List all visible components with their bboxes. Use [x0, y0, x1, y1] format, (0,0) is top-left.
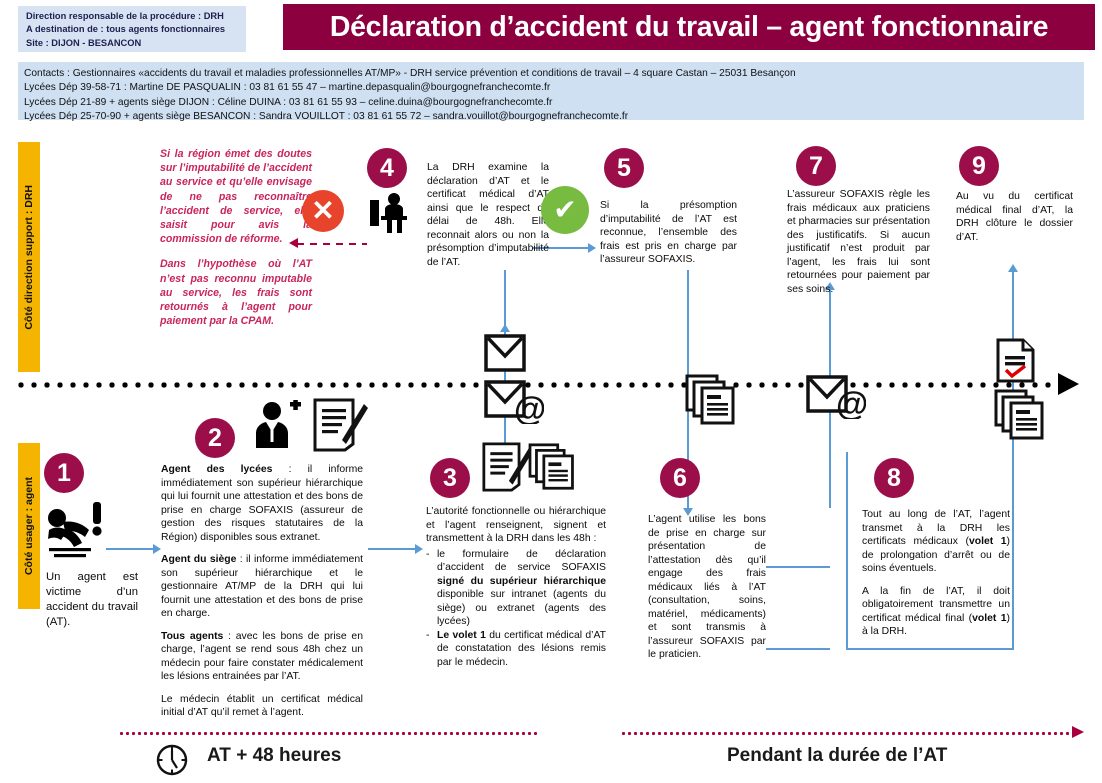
step-badge-8: 8 — [874, 458, 914, 498]
step-8-paragraph-2: A la fin de l’AT, il doit obligatoiremen… — [862, 585, 1010, 639]
step-2-body-4: Le médecin établit un certificat médical… — [161, 694, 363, 719]
step-badge-7: 7 — [796, 146, 836, 186]
step-2-lead-1: Agent des lycées — [161, 464, 272, 475]
step-2-lead-3: Tous agents — [161, 631, 223, 642]
accept-check-icon: ✔ — [541, 186, 589, 234]
contacts-line-2: Lycées Dép 39-58-71 : Martine DE PASQUAL… — [24, 81, 1084, 95]
connector-step8-to-step9-arrow-icon — [1008, 264, 1018, 272]
step-9-text: Au vu du certificat médical final d’AT, … — [956, 190, 1073, 244]
meta-line-2: A destination de : tous agents fonctionn… — [26, 23, 240, 36]
step-2-text: Agent des lycées : il informe immédiatem… — [161, 463, 363, 720]
certificate-validated-icon — [995, 338, 1037, 384]
step-3-bullet-1-text: le formulaire de déclaration d’accident … — [437, 549, 606, 628]
footer-label-left: AT + 48 heures — [207, 745, 341, 767]
connector-step2-to-step3 — [368, 548, 416, 550]
contacts-box: Contacts : Gestionnaires «accidents du t… — [18, 62, 1084, 120]
reject-cross-icon: ✕ — [302, 190, 344, 232]
red-note-block: Si la région émet des doutes sur l’imput… — [160, 147, 312, 328]
step-8-text: Tout au long de l’AT, l’agent transmet à… — [862, 508, 1010, 639]
step-3-bullet-1: -le formulaire de déclaration d’accident… — [426, 548, 606, 629]
page-title-bar: Déclaration d’accident du travail – agen… — [283, 4, 1095, 50]
step-3-bullet-list: -le formulaire de déclaration d’accident… — [426, 548, 606, 670]
documents-stack-icon-2 — [994, 389, 1050, 441]
step-2-paragraph-4: Le médecin établit un certificat médical… — [161, 693, 363, 720]
step-5-body: Si la présomption d’imputabilité de l’AT… — [600, 199, 737, 267]
step-badge-6: 6 — [660, 458, 700, 498]
step-3-bullet-2-text: Le volet 1 du certificat médical d’AT de… — [437, 630, 606, 668]
meta-line-3: Site : DIJON - BESANCON — [26, 37, 240, 50]
step-6-text: L’agent utilise les bons de prise en cha… — [648, 513, 766, 662]
contacts-line-4: Lycées Dép 25-70-90 + agents siège BESAN… — [24, 110, 1084, 124]
clock-icon — [155, 743, 189, 777]
footer-rule-left — [120, 732, 540, 735]
step-2-paragraph-2: Agent du siège : il informe immédiatemen… — [161, 553, 363, 621]
bullet-dash-icon-2: - — [426, 629, 429, 643]
footer-rule-right — [622, 732, 1074, 735]
step-4-text: La DRH examine la déclaration d’AT et le… — [427, 161, 549, 269]
swimlane-label-drh-text: Côté direction support : DRH — [23, 185, 35, 330]
connector-step8-to-step9 — [1012, 270, 1014, 650]
document-meta-box: Direction responsable de la procédure : … — [18, 6, 246, 52]
step-3-intro: L’autorité fonctionnelle ou hiérarchique… — [426, 505, 606, 546]
timeline-axis — [18, 381, 1080, 388]
step-6-body: L’agent utilise les bons de prise en cha… — [648, 513, 766, 662]
step-2-body-1: : il informe immédiatement son supérieur… — [161, 464, 363, 543]
page-title: Déclaration d’accident du travail – agen… — [330, 11, 1048, 44]
doctor-icon — [250, 400, 308, 450]
step-7-text: L’assureur SOFAXIS règle les frais médic… — [787, 188, 930, 296]
swimlane-label-agent: Côté usager : agent — [18, 443, 40, 609]
email-icon-2: @ — [806, 375, 866, 419]
bullet-dash-icon: - — [426, 548, 429, 562]
connector-step8-box-left — [846, 452, 848, 650]
connector-step6-right-2 — [766, 648, 830, 650]
step-badge-5: 5 — [604, 148, 644, 188]
svg-text:@: @ — [514, 390, 544, 424]
contacts-line-1: Contacts : Gestionnaires «accidents du t… — [24, 67, 1084, 81]
svg-text:@: @ — [836, 385, 866, 419]
step-4-body: La DRH examine la déclaration d’AT et le… — [427, 161, 549, 269]
connector-step1-to-step2-arrow-icon — [153, 544, 161, 554]
step-badge-9: 9 — [959, 146, 999, 186]
step-badge-3: 3 — [430, 458, 470, 498]
envelope-icon — [484, 334, 526, 372]
step-1-caption: Un agent est victime d’un accident du tr… — [46, 570, 138, 630]
step-5-text: Si la présomption d’imputabilité de l’AT… — [600, 199, 737, 267]
step-2-paragraph-1: Agent des lycées : il informe immédiatem… — [161, 463, 363, 544]
red-note-paragraph-2: Dans l’hypothèse où l’AT n’est pas recon… — [160, 257, 312, 328]
step-2-lead-2: Agent du siège — [161, 554, 236, 565]
documents-stack-icon-3 — [528, 443, 580, 491]
connector-step6-right-1 — [766, 566, 830, 568]
step-badge-4: 4 — [367, 148, 407, 188]
swimlane-label-agent-text: Côté usager : agent — [23, 477, 35, 575]
step-7-body: L’assureur SOFAXIS règle les frais médic… — [787, 188, 930, 296]
step-badge-1: 1 — [44, 453, 84, 493]
footer-rule-right-arrow-icon — [1072, 726, 1084, 738]
contacts-line-3: Lycées Dép 21-89 + agents siège DIJON : … — [24, 96, 1084, 110]
connector-mail-to-step4 — [504, 270, 506, 330]
connector-step2-to-step3-arrow-icon — [415, 544, 423, 554]
connector-step4-to-step5-arrow-icon — [588, 243, 596, 253]
connector-step8-box-bottom — [846, 648, 1014, 650]
meta-line-1: Direction responsable de la procédure : … — [26, 10, 240, 23]
form-signature-icon — [312, 398, 368, 452]
timeline-arrow-icon — [1058, 373, 1079, 395]
desk-worker-icon — [367, 192, 415, 240]
red-note-paragraph-1: Si la région émet des doutes sur l’imput… — [160, 147, 312, 246]
step-3-text: L’autorité fonctionnelle ou hiérarchique… — [426, 505, 606, 669]
swimlane-label-drh: Côté direction support : DRH — [18, 142, 40, 372]
documents-stack-icon — [685, 374, 741, 426]
email-icon: @ — [484, 380, 544, 424]
footer-label-right: Pendant la durée de l’AT — [727, 745, 947, 767]
step-9-body: Au vu du certificat médical final d’AT, … — [956, 190, 1073, 244]
step-badge-2: 2 — [195, 418, 235, 458]
falling-person-icon — [43, 500, 115, 560]
step-2-paragraph-3: Tous agents : avec les bons de prise en … — [161, 630, 363, 684]
step-3-bullet-2: -Le volet 1 du certificat médical d’AT d… — [426, 629, 606, 670]
step-8-paragraph-1: Tout au long de l’AT, l’agent transmet à… — [862, 508, 1010, 576]
form-signature-icon-2 — [481, 442, 533, 492]
